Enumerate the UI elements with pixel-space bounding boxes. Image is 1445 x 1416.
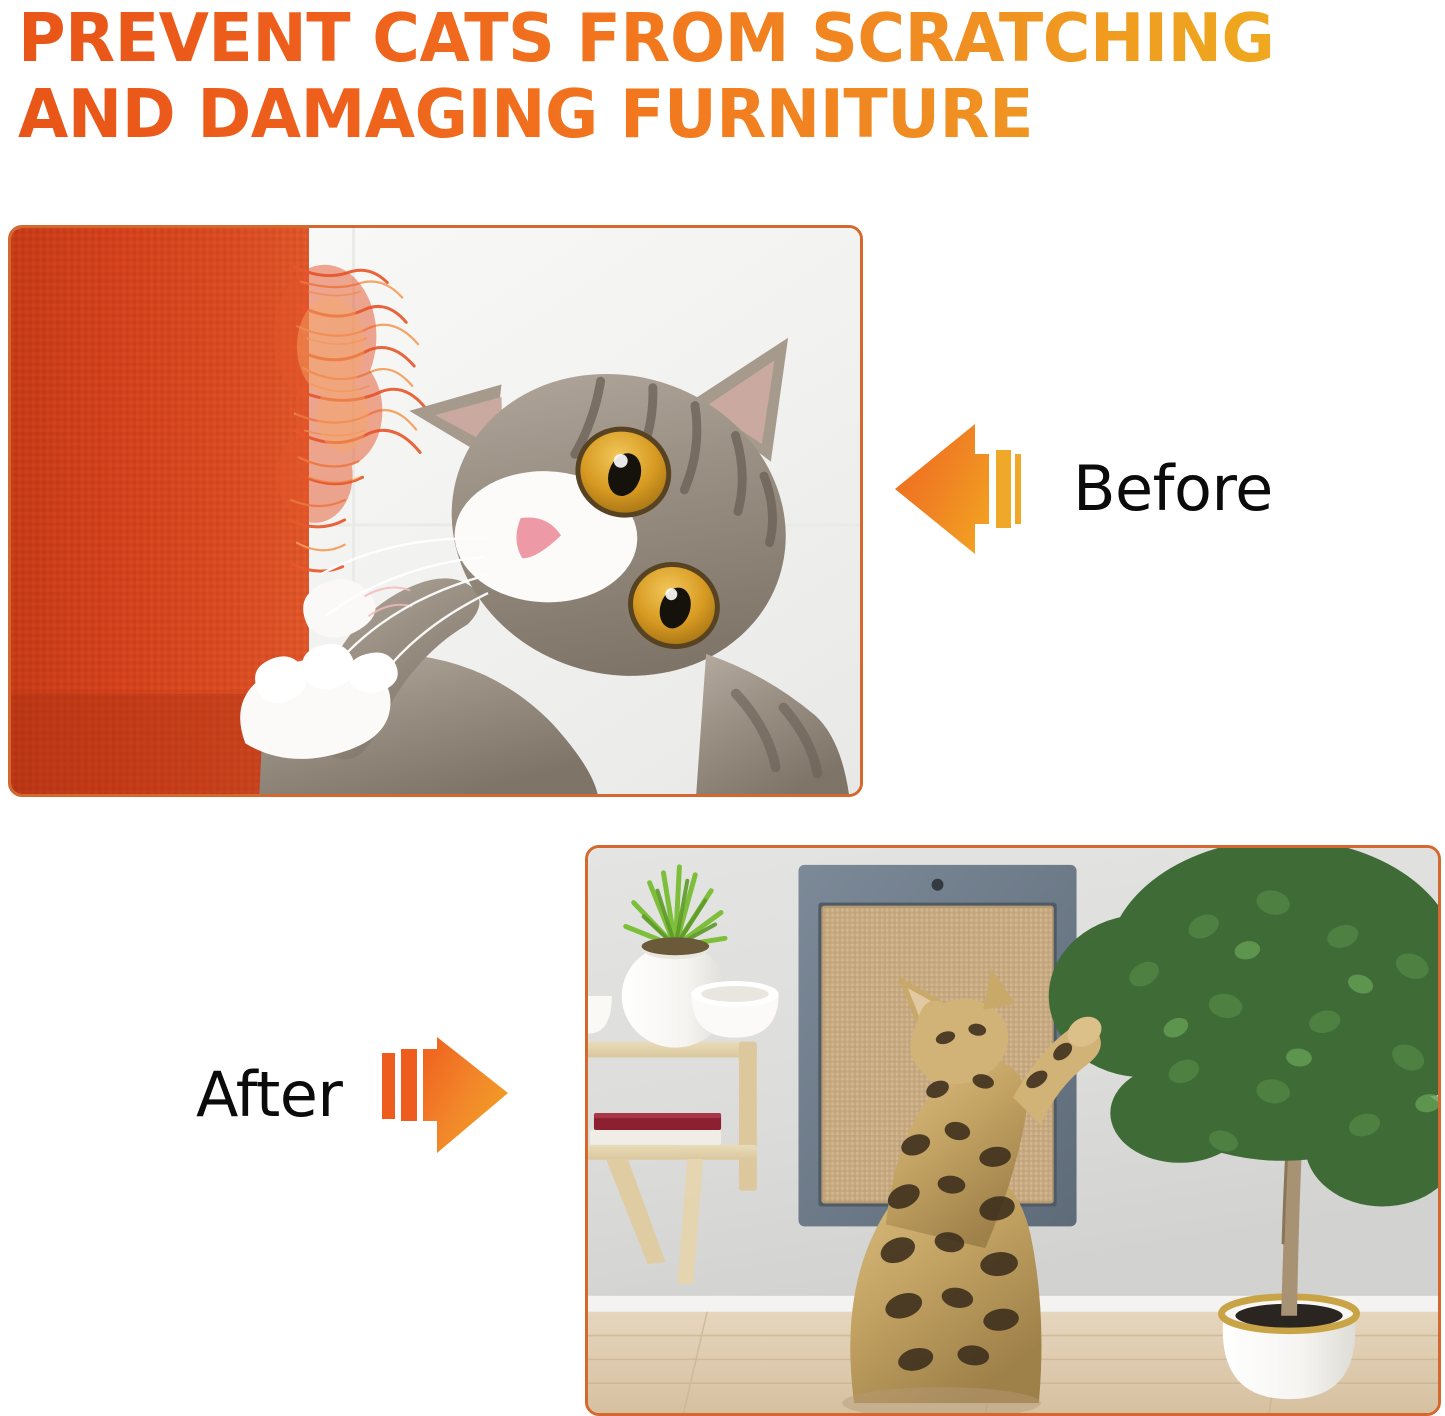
after-callout: After bbox=[196, 1035, 510, 1155]
after-photo-illustration bbox=[588, 848, 1438, 1413]
headline-line-1: PREVENT CATS FROM SCRATCHING bbox=[18, 0, 1395, 76]
headline-line-2: AND DAMAGING FURNITURE bbox=[18, 76, 1395, 152]
after-photo bbox=[585, 845, 1441, 1416]
headline-block: PREVENT CATS FROM SCRATCHING AND DAMAGIN… bbox=[18, 0, 1438, 152]
product-feature-image: PREVENT CATS FROM SCRATCHING AND DAMAGIN… bbox=[0, 0, 1445, 1416]
before-callout: Before bbox=[893, 420, 1273, 558]
arrow-right-icon bbox=[382, 1035, 510, 1155]
before-photo bbox=[8, 225, 863, 797]
before-photo-illustration bbox=[11, 228, 860, 794]
after-label: After bbox=[196, 1064, 342, 1126]
arrow-left-icon bbox=[893, 420, 1021, 558]
before-label: Before bbox=[1073, 458, 1273, 520]
